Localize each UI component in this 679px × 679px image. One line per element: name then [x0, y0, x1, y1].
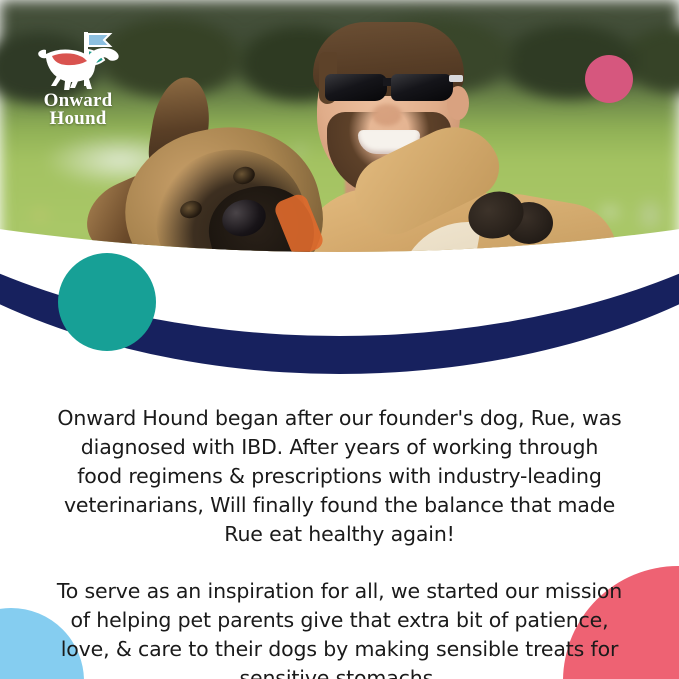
man-hand	[391, 277, 501, 373]
teal-circle-decoration	[58, 253, 156, 351]
story-paragraph-1: Onward Hound began after our founder's d…	[56, 404, 623, 549]
sunglass-lens-left	[325, 74, 387, 101]
dog-leash	[442, 267, 538, 372]
dog-with-flag-logo-icon	[26, 28, 130, 90]
sunglasses	[321, 71, 461, 104]
story-copy: Onward Hound began after our founder's d…	[56, 404, 623, 679]
story-paragraph-2: To serve as an inspiration for all, we s…	[56, 577, 623, 679]
brand-wordmark-line2: Hound	[26, 110, 130, 128]
sunglass-temple	[449, 75, 463, 82]
man-nose	[372, 104, 402, 126]
man-forearm	[155, 282, 452, 400]
brand-logo[interactable]: Onward Hound	[26, 28, 130, 128]
sunglass-lens-right	[391, 74, 453, 101]
brand-wordmark: Onward Hound	[26, 92, 130, 128]
pink-dot-decoration	[585, 55, 633, 103]
brand-story-card: Onward Hound Onward Hound began after ou…	[0, 0, 679, 679]
